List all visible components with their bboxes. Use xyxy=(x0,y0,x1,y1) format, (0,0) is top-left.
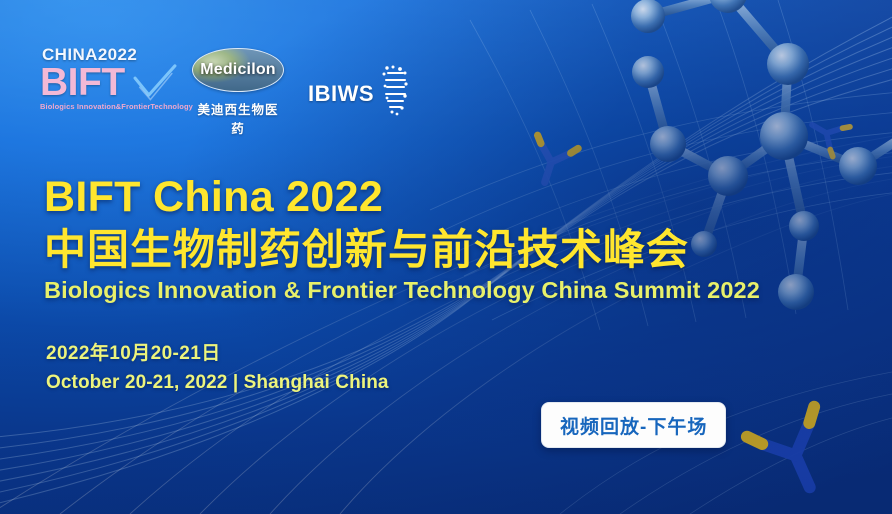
sponsor-logo-row: CHINA2022 BIFT Biologics Innovation&Fron… xyxy=(40,46,410,137)
video-replay-button[interactable]: 视频回放-下午场 xyxy=(541,402,726,448)
headline-block: BIFT China 2022 中国生物制药创新与前沿技术峰会 Biologic… xyxy=(44,176,760,303)
event-date-chinese: 2022年10月20-21日 xyxy=(46,342,389,366)
ibiws-logo[interactable]: IBIWS xyxy=(308,72,410,116)
antibody-icon xyxy=(733,391,854,512)
ibiws-wordmark: IBIWS xyxy=(308,81,374,107)
checkmark-swoosh-icon xyxy=(132,64,178,106)
oval-globe-icon: Medicilon xyxy=(192,48,284,92)
event-date-english: October 20-21, 2022 | Shanghai China xyxy=(46,371,389,395)
event-dates: 2022年10月20-21日 October 20-21, 2022 | Sha… xyxy=(46,342,389,395)
medicilon-chinese-name: 美迪西生物医药 xyxy=(192,99,284,137)
bift-logo[interactable]: CHINA2022 BIFT Biologics Innovation&Fron… xyxy=(40,46,168,111)
video-replay-button-label: 视频回放-下午场 xyxy=(560,412,707,439)
medicilon-wordmark: Medicilon xyxy=(193,49,283,91)
dna-helix-dots-icon xyxy=(380,64,410,116)
page-title: BIFT China 2022 xyxy=(44,176,760,219)
page-subtitle: Biologics Innovation & Frontier Technolo… xyxy=(44,278,760,304)
medicilon-logo[interactable]: Medicilon 美迪西生物医药 xyxy=(192,48,284,137)
antibody-icon xyxy=(798,104,858,164)
event-banner: CHINA2022 BIFT Biologics Innovation&Fron… xyxy=(0,0,892,514)
page-title-chinese: 中国生物制药创新与前沿技术峰会 xyxy=(44,228,760,273)
